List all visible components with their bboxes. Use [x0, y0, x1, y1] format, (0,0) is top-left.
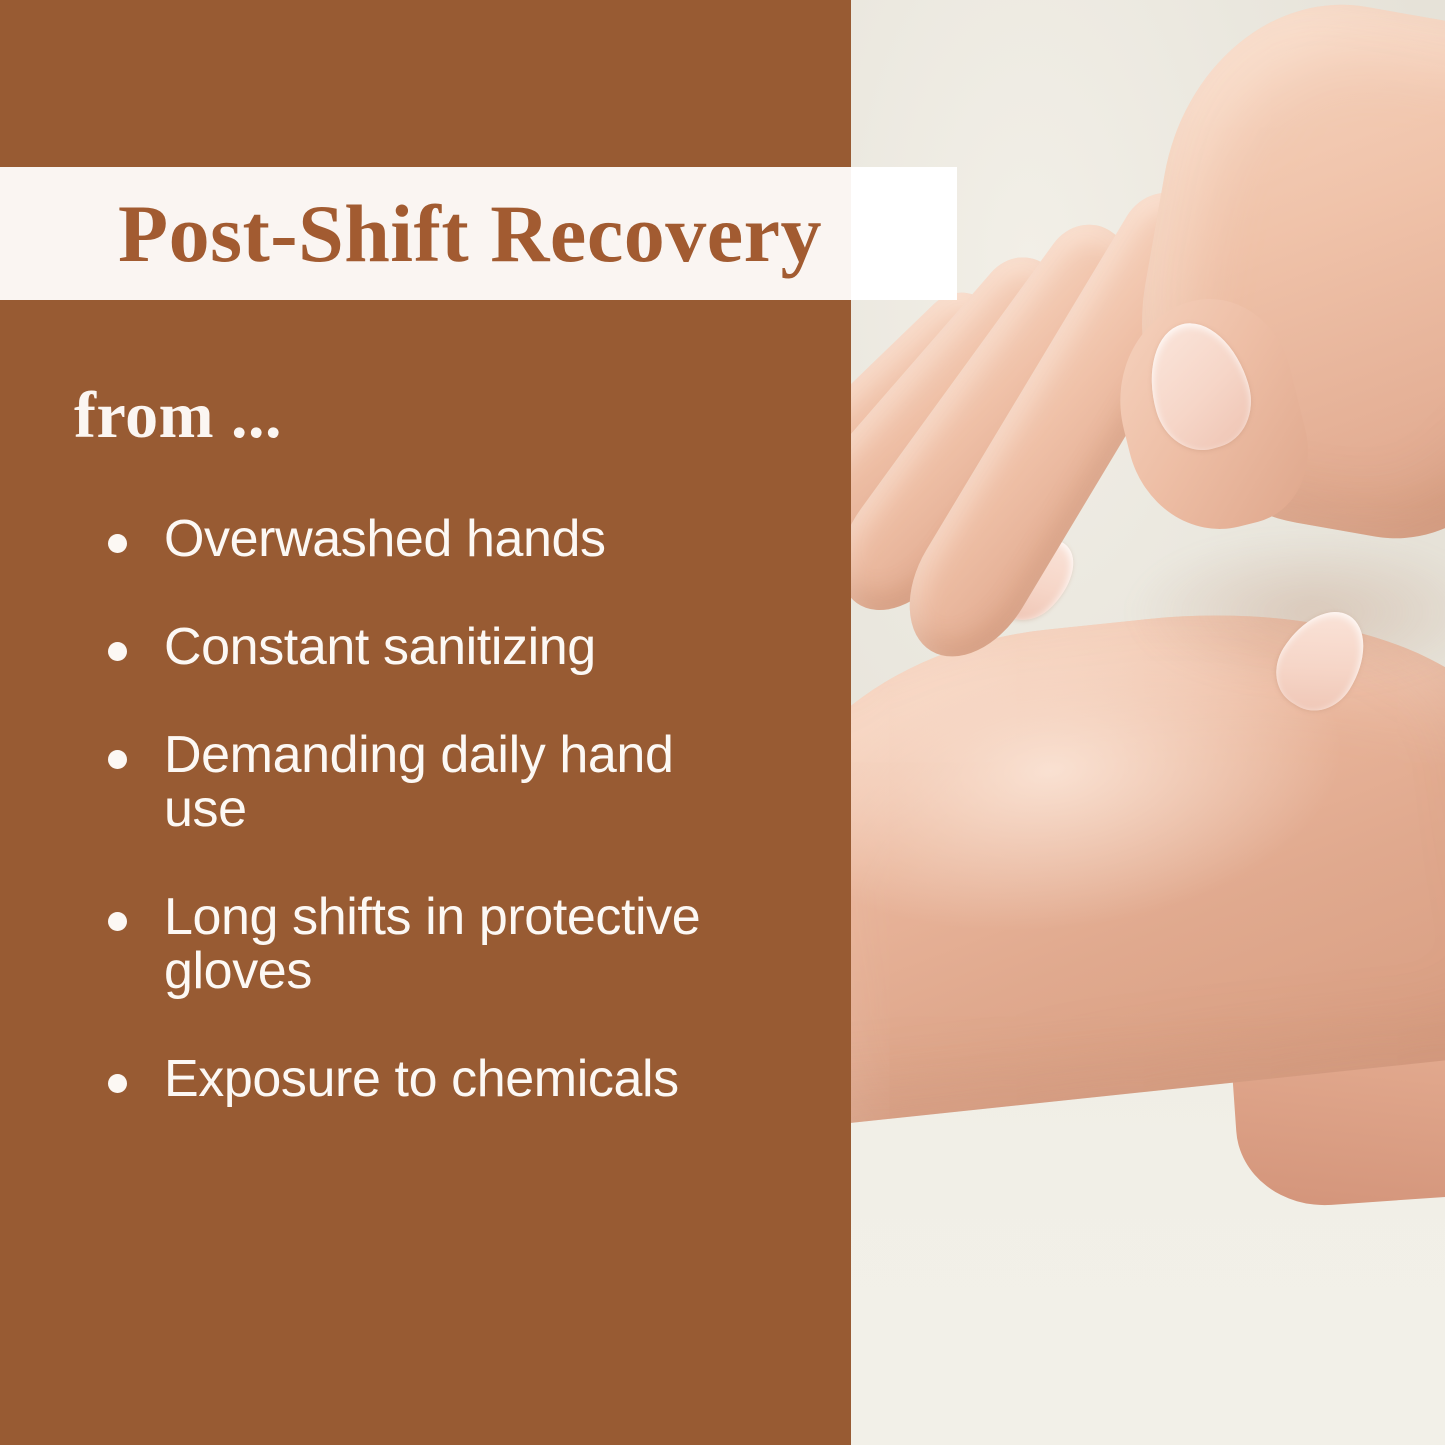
- bullet-dot-icon: [108, 1074, 127, 1093]
- list-item: Exposure to chemicals: [96, 1052, 766, 1106]
- list-item: Constant sanitizing: [96, 620, 766, 674]
- upper-hand-shadow: [1101, 540, 1445, 720]
- list-item: Long shifts in protective gloves: [96, 890, 766, 998]
- list-item-label: Constant sanitizing: [164, 620, 766, 674]
- bullet-dot-icon: [108, 534, 127, 553]
- bullet-dot-icon: [108, 912, 127, 931]
- pain-point-list: Overwashed hands Constant sanitizing Dem…: [96, 512, 766, 1107]
- list-item: Demanding daily hand use: [96, 728, 766, 836]
- promo-poster: Post-Shift Recovery from ... Overwashed …: [0, 0, 1445, 1445]
- list-item-label: Demanding daily hand use: [164, 728, 766, 836]
- page-title: Post-Shift Recovery: [0, 167, 940, 300]
- list-item-label: Long shifts in protective gloves: [164, 890, 766, 998]
- list-item-label: Exposure to chemicals: [164, 1052, 766, 1106]
- bullet-dot-icon: [108, 642, 127, 661]
- bullet-dot-icon: [108, 750, 127, 769]
- list-item: Overwashed hands: [96, 512, 766, 566]
- lead-in-text: from ...: [74, 378, 282, 454]
- list-item-label: Overwashed hands: [164, 512, 766, 566]
